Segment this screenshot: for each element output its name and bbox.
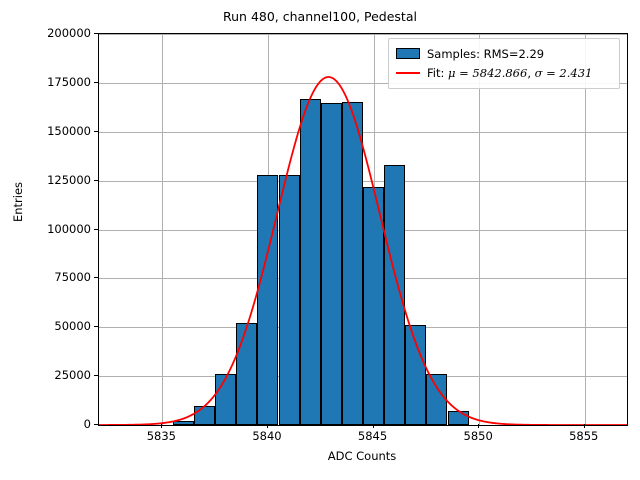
x-axis-label: ADC Counts [98, 449, 626, 463]
legend-line-icon [396, 67, 420, 78]
x-tick-mark [478, 424, 479, 428]
x-tick-label: 5850 [448, 429, 508, 443]
y-tick-label: 200000 [5, 26, 91, 40]
y-tick-mark [94, 82, 98, 83]
x-tick-mark [584, 424, 585, 428]
y-tick-mark [94, 33, 98, 34]
y-tick-mark [94, 277, 98, 278]
legend: Samples: RMS=2.29 Fit: μ = 5842.866, σ =… [388, 38, 620, 89]
x-tick-label: 5845 [343, 429, 403, 443]
y-tick-label: 0 [5, 417, 91, 431]
y-tick-label: 25000 [5, 368, 91, 382]
y-tick-mark [94, 131, 98, 132]
gaussian-fit-curve [99, 34, 627, 425]
fit-path [99, 77, 627, 425]
y-tick-mark [94, 180, 98, 181]
page-title: Run 480, channel100, Pedestal [0, 9, 640, 24]
y-tick-mark [94, 375, 98, 376]
y-tick-label: 50000 [5, 319, 91, 333]
figure-canvas: Run 480, channel100, Pedestal 0250005000… [0, 0, 640, 480]
x-tick-label: 5855 [554, 429, 614, 443]
x-tick-label: 5835 [131, 429, 191, 443]
gridline-horizontal [99, 425, 627, 426]
y-tick-label: 175000 [5, 75, 91, 89]
y-tick-mark [94, 326, 98, 327]
legend-label-samples: Samples: RMS=2.29 [427, 47, 544, 61]
y-tick-mark [94, 424, 98, 425]
y-tick-mark [94, 229, 98, 230]
legend-patch-icon [396, 48, 420, 59]
legend-label-fit: Fit: μ = 5842.866, σ = 2.431 [427, 66, 592, 80]
x-tick-mark [161, 424, 162, 428]
x-tick-mark [373, 424, 374, 428]
plot-area [98, 33, 628, 426]
x-tick-mark [267, 424, 268, 428]
legend-item-samples: Samples: RMS=2.29 [396, 44, 613, 63]
x-tick-label: 5840 [237, 429, 297, 443]
legend-item-fit: Fit: μ = 5842.866, σ = 2.431 [396, 63, 613, 82]
y-axis-label: Entries [11, 122, 25, 282]
